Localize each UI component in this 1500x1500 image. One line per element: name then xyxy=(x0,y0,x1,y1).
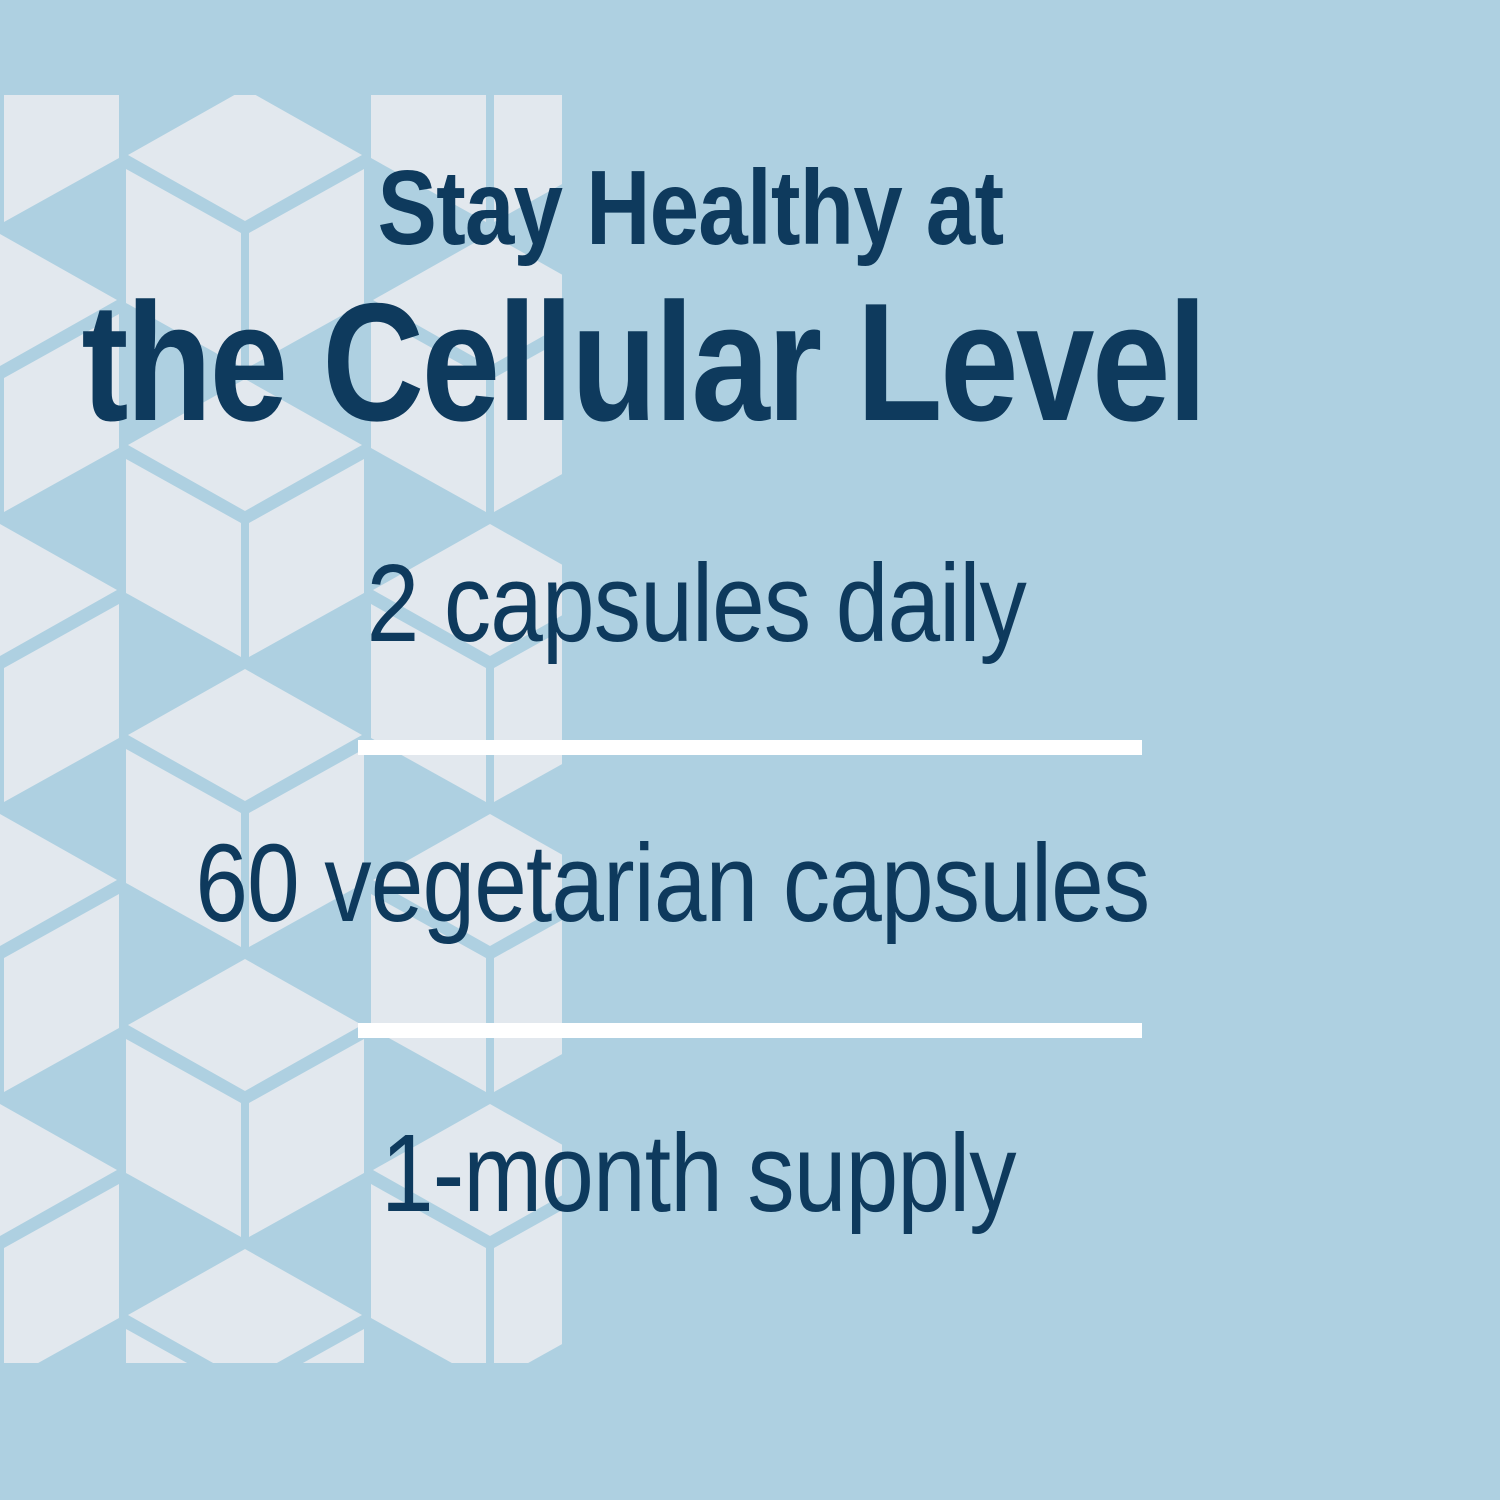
divider-rule-1 xyxy=(358,740,1142,755)
content-layer: Stay Healthy at the Cellular Level 2 cap… xyxy=(0,0,1500,1500)
fact-capsule-count: 60 vegetarian capsules xyxy=(195,829,1149,939)
fact-supply-duration: 1-month supply xyxy=(381,1119,1016,1229)
headline-eyebrow: Stay Healthy at xyxy=(378,155,1004,261)
divider-rule-2 xyxy=(358,1023,1142,1038)
fact-dosage: 2 capsules daily xyxy=(367,549,1026,659)
page-title: the Cellular Level xyxy=(81,278,1204,446)
product-info-graphic: Stay Healthy at the Cellular Level 2 cap… xyxy=(0,0,1500,1500)
